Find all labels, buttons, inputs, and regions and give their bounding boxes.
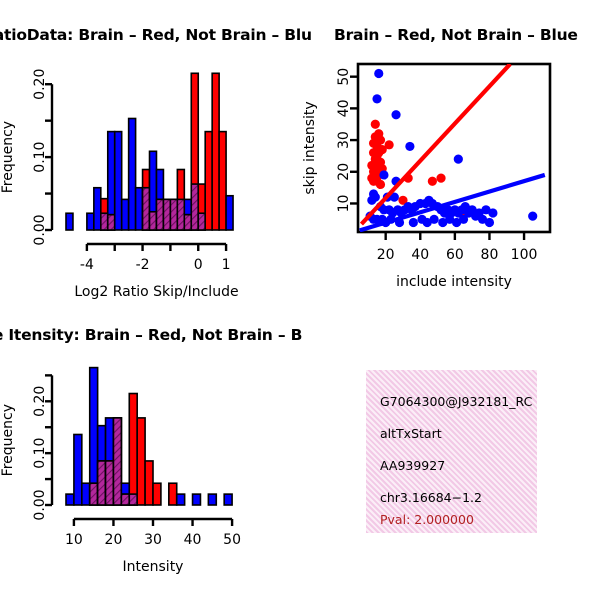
x-tick-label: 60 bbox=[446, 247, 464, 263]
x-axis-label: Intensity bbox=[123, 559, 184, 575]
x-tick-label: 20 bbox=[105, 532, 123, 548]
scatter-panel: 1020304050skip intensity20406080100inclu… bbox=[300, 50, 600, 300]
scatter-point-not-brain bbox=[409, 218, 418, 227]
hist-bar-not-brain bbox=[226, 196, 233, 230]
x-tick-label: 80 bbox=[481, 247, 499, 263]
ratio-histogram-panel: 0.000.100.20Frequency-4-201Log2 Ratio Sk… bbox=[0, 50, 300, 300]
hist-bar-overlap bbox=[198, 213, 205, 230]
accession-text: AA939927 bbox=[380, 458, 445, 473]
y-tick-label: 20 bbox=[336, 163, 352, 181]
y-axis-label: Frequency bbox=[0, 404, 16, 476]
x-axis-label: include intensity bbox=[396, 274, 512, 290]
pval-text: Pval: 2.000000 bbox=[380, 512, 474, 527]
hist-bar-overlap bbox=[121, 494, 129, 505]
scatter-svg: 1020304050skip intensity20406080100inclu… bbox=[300, 50, 600, 300]
hist-bar-not-brain bbox=[122, 199, 129, 230]
ratio-hist-title: RatioData: Brain – Red, Not Brain – Blu bbox=[0, 26, 312, 44]
scatter-point-not-brain bbox=[367, 196, 376, 205]
hist-bar-not-brain bbox=[115, 132, 122, 230]
hist-bar-not-brain bbox=[87, 213, 94, 230]
x-tick-label: 10 bbox=[65, 532, 83, 548]
scatter-point-brain bbox=[436, 174, 445, 183]
scatter-point-not-brain bbox=[430, 215, 439, 224]
hist-bar-overlap bbox=[101, 213, 108, 230]
hist-bar-not-brain bbox=[224, 494, 232, 505]
hist-bar-overlap bbox=[170, 199, 177, 230]
hist-bar-not-brain bbox=[66, 213, 73, 230]
y-tick-label: 10 bbox=[336, 195, 352, 213]
hist-bar-overlap bbox=[113, 418, 121, 505]
scatter-point-brain bbox=[385, 140, 394, 149]
hist-bar-overlap bbox=[163, 199, 170, 230]
scatter-point-brain bbox=[376, 158, 385, 167]
intensity-hist-title: ne Itensity: Brain – Red, Not Brain – B bbox=[0, 326, 302, 344]
hist-bar-not-brain bbox=[208, 494, 216, 505]
x-tick-label: -2 bbox=[136, 257, 150, 273]
ratio-histogram-svg: 0.000.100.20Frequency-4-201Log2 Ratio Sk… bbox=[0, 50, 300, 300]
x-axis-label: Log2 Ratio Skip/Include bbox=[74, 284, 238, 300]
scatter-point-brain bbox=[371, 120, 380, 129]
x-tick-label: 0 bbox=[194, 257, 203, 273]
hist-bar-overlap bbox=[90, 483, 98, 505]
hist-bar-brain bbox=[145, 461, 153, 505]
scatter-point-brain bbox=[376, 180, 385, 189]
y-tick-label: 50 bbox=[336, 68, 352, 86]
scatter-point-not-brain bbox=[485, 218, 494, 227]
hist-bar-overlap bbox=[98, 461, 106, 505]
hist-bar-overlap bbox=[177, 199, 184, 230]
scatter-point-brain bbox=[374, 148, 383, 157]
hist-bar-not-brain bbox=[66, 494, 74, 505]
hist-bar-overlap bbox=[108, 215, 115, 230]
hist-bar-overlap bbox=[143, 188, 150, 230]
hist-bar-brain bbox=[153, 483, 161, 505]
x-tick-label: 20 bbox=[377, 247, 395, 263]
scatter-point-not-brain bbox=[454, 154, 463, 163]
y-tick-label: 30 bbox=[336, 131, 352, 149]
x-tick-label: 1 bbox=[222, 257, 231, 273]
scatter-point-not-brain bbox=[374, 69, 383, 78]
regression-line bbox=[361, 64, 510, 224]
hist-bar-overlap bbox=[150, 212, 157, 230]
scatter-point-not-brain bbox=[488, 208, 497, 217]
y-tick-label: 40 bbox=[336, 99, 352, 117]
hist-bar-not-brain bbox=[129, 118, 136, 230]
y-tick-label: 0.20 bbox=[32, 386, 48, 417]
x-tick-label: 40 bbox=[184, 532, 202, 548]
hist-bar-not-brain bbox=[74, 434, 82, 505]
hist-bar-not-brain bbox=[136, 188, 143, 230]
x-tick-label: 30 bbox=[144, 532, 162, 548]
scatter-point-not-brain bbox=[391, 110, 400, 119]
x-tick-label: -4 bbox=[80, 257, 94, 273]
hist-bar-brain bbox=[137, 418, 145, 505]
y-tick-label: 0.20 bbox=[32, 69, 48, 100]
hist-bar-not-brain bbox=[193, 494, 201, 505]
event-type-text: altTxStart bbox=[380, 426, 442, 441]
y-tick-label: 0.10 bbox=[32, 438, 48, 469]
hist-bar-not-brain bbox=[94, 188, 101, 230]
locus-text: chr3.16684−1.2 bbox=[380, 490, 482, 505]
y-axis-label: Frequency bbox=[0, 121, 16, 193]
hist-bar-overlap bbox=[156, 199, 163, 230]
hist-bar-overlap bbox=[106, 461, 114, 505]
x-tick-label: 40 bbox=[411, 247, 429, 263]
hist-bar-not-brain bbox=[82, 483, 90, 505]
intensity-histogram-svg: 0.000.100.20Frequency1020304050Intensity bbox=[0, 355, 300, 600]
probe-id-text: G7064300@J932181_RC bbox=[380, 394, 532, 409]
scatter-point-brain bbox=[371, 132, 380, 141]
hist-bar-overlap bbox=[129, 494, 137, 505]
scatter-point-not-brain bbox=[405, 142, 414, 151]
scatter-title: Brain – Red, Not Brain – Blue bbox=[334, 26, 578, 44]
scatter-point-not-brain bbox=[528, 212, 537, 221]
x-tick-label: 100 bbox=[511, 247, 538, 263]
y-tick-label: 0.10 bbox=[32, 142, 48, 173]
scatter-point-not-brain bbox=[372, 94, 381, 103]
hist-bar-overlap bbox=[184, 215, 191, 230]
scatter-point-not-brain bbox=[459, 215, 468, 224]
y-tick-label: 0.00 bbox=[32, 489, 48, 520]
scatter-point-not-brain bbox=[379, 170, 388, 179]
y-tick-label: 0.00 bbox=[32, 214, 48, 245]
y-axis-label: skip intensity bbox=[302, 101, 318, 194]
intensity-histogram-panel: 0.000.100.20Frequency1020304050Intensity bbox=[0, 355, 300, 600]
hist-bar-brain bbox=[129, 394, 137, 505]
hist-bar-brain bbox=[205, 132, 212, 230]
hist-bar-overlap bbox=[191, 184, 198, 230]
annotation-panel: G7064300@J932181_RC altTxStart AA939927 … bbox=[366, 370, 537, 533]
x-tick-label: 50 bbox=[223, 532, 241, 548]
hist-bar-not-brain bbox=[177, 494, 185, 505]
hist-bar-brain bbox=[169, 483, 177, 505]
hist-bar-brain bbox=[219, 132, 226, 230]
hist-bar-brain bbox=[212, 73, 219, 230]
scatter-point-brain bbox=[428, 177, 437, 186]
